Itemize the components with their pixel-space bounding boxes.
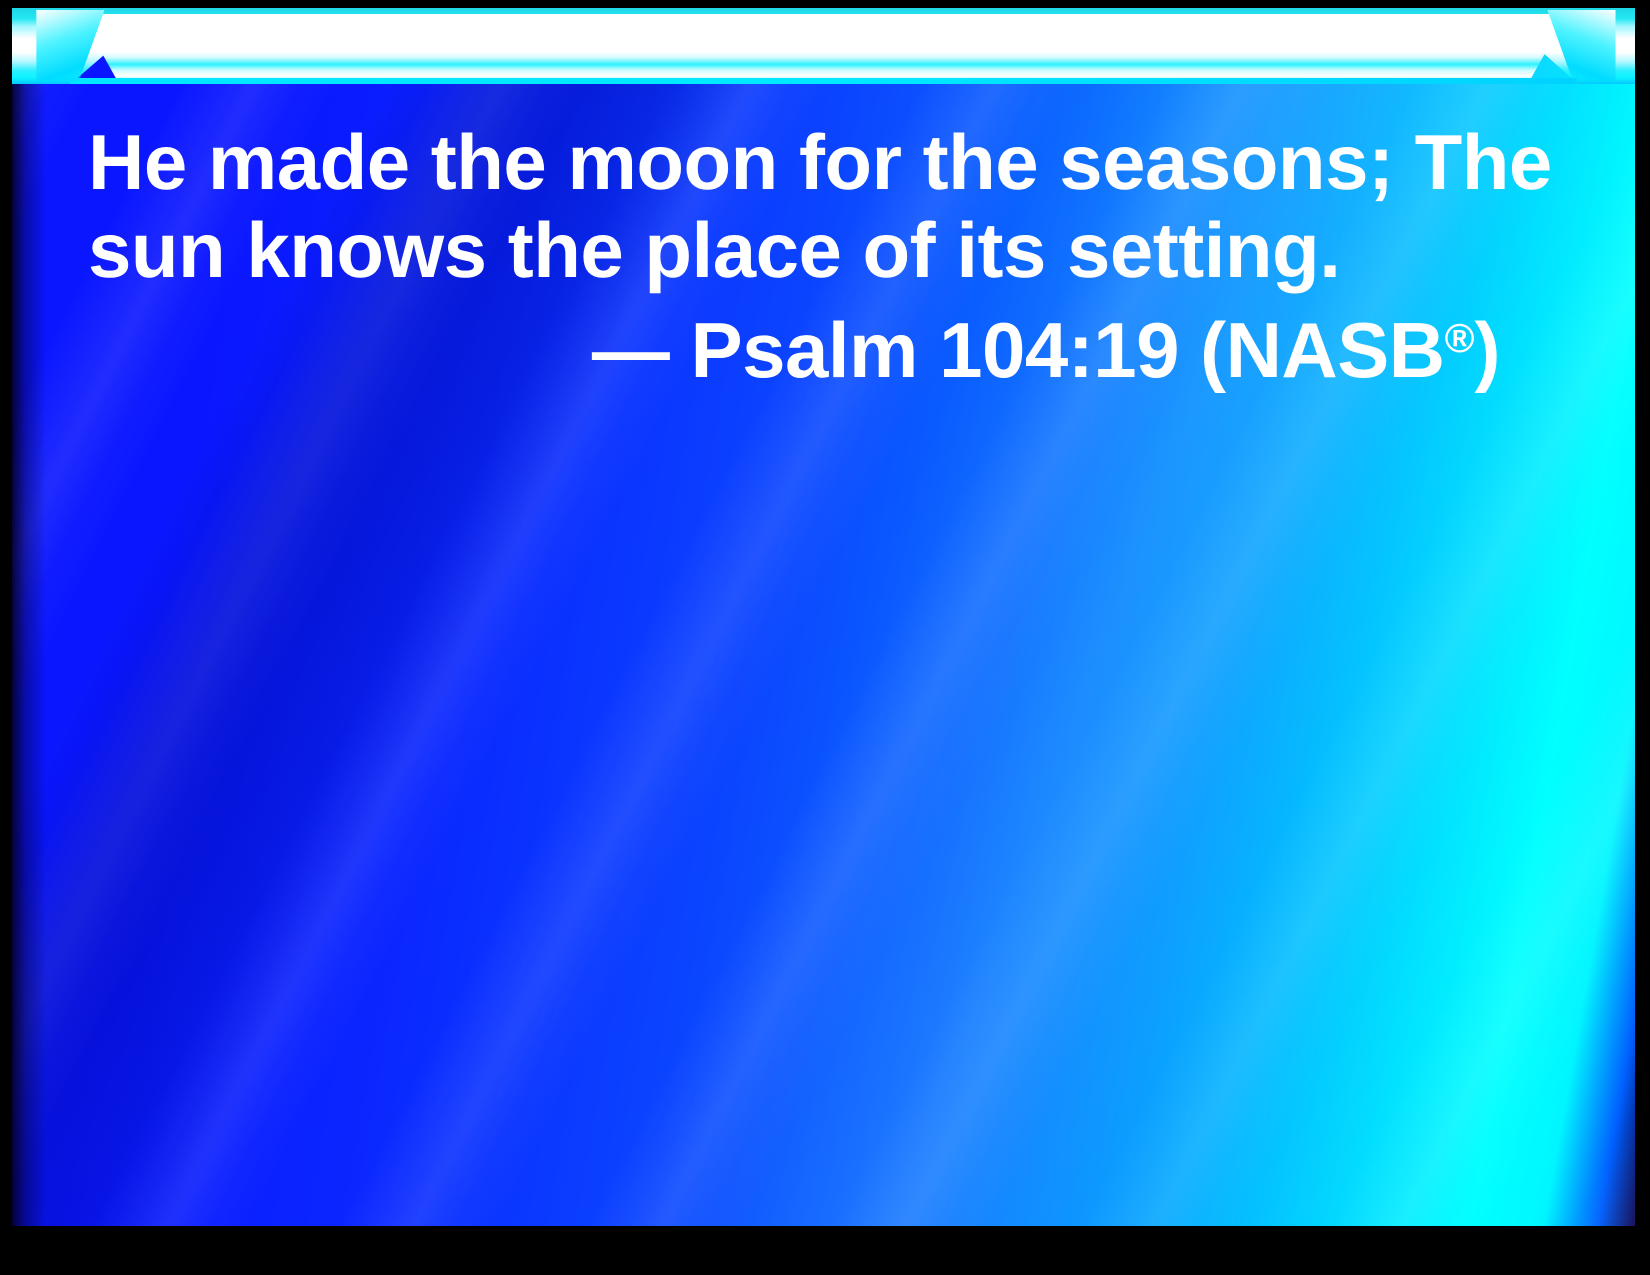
attribution-space-2 xyxy=(918,306,939,394)
top-decorative-banner xyxy=(12,8,1635,84)
attribution-translation-open: (NASB xyxy=(1200,306,1445,394)
verse-line-2: sun knows the place of its setting. xyxy=(88,206,1588,294)
slide-gradient-background: He made the moon for the seasons; The su… xyxy=(12,8,1635,1226)
registered-trademark-icon: ® xyxy=(1445,315,1475,361)
verse-text-block: He made the moon for the seasons; The su… xyxy=(88,118,1588,394)
attribution-space-1 xyxy=(669,306,690,394)
banner-white-layer xyxy=(12,14,1635,84)
verse-attribution: — Psalm 104:19 (NASB®) xyxy=(88,294,1588,394)
bible-verse-slide: He made the moon for the seasons; The su… xyxy=(0,0,1650,1275)
attribution-em-dash: — xyxy=(592,306,670,394)
banner-underline xyxy=(70,78,1576,84)
attribution-reference: 104:19 xyxy=(939,306,1179,394)
attribution-translation-close: ) xyxy=(1475,306,1500,394)
attribution-space-3 xyxy=(1179,306,1200,394)
background-left-edge-shadow xyxy=(12,8,46,1226)
attribution-book: Psalm xyxy=(691,306,918,394)
verse-line-1: He made the moon for the seasons; The xyxy=(88,118,1588,206)
